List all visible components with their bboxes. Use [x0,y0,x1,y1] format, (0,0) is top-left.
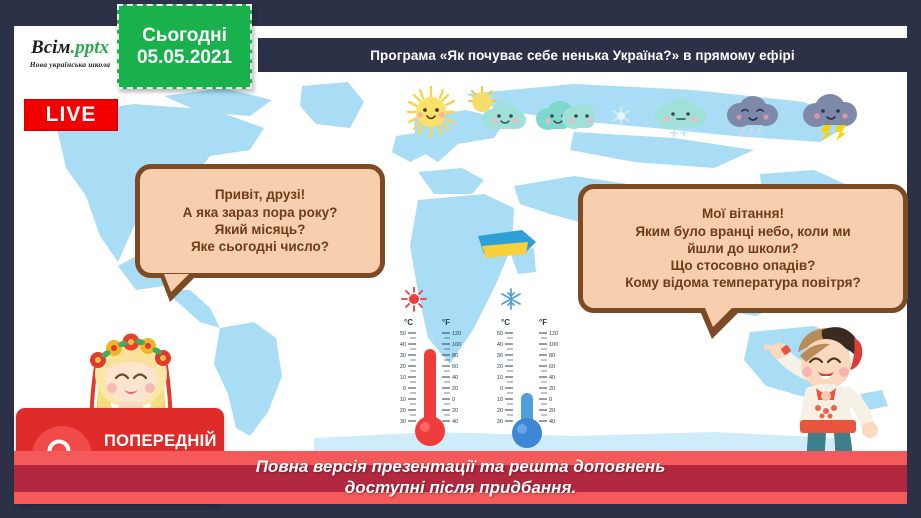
svg-text:80: 80 [452,353,458,359]
footer-bar: Повна версія презентації та решта доповн… [14,451,907,504]
svg-text:20: 20 [497,408,503,414]
svg-text:40: 40 [497,342,503,348]
snow-cloud-icon [648,83,710,141]
svg-text:100: 100 [452,342,461,348]
thunderstorm-cloud-icon [798,83,860,141]
svg-text:0: 0 [403,386,406,392]
svg-text:0: 0 [549,397,552,403]
sun-icon [400,83,462,141]
weather-icon-row [400,83,910,141]
snowflake-small-icon [605,83,637,141]
rain-cloud-icon [720,83,782,141]
svg-text:0: 0 [452,397,455,403]
svg-text:20: 20 [549,386,555,392]
svg-text:50: 50 [497,331,503,337]
svg-text:20: 20 [452,386,458,392]
svg-text:10: 10 [497,375,503,381]
svg-text:20: 20 [549,408,555,414]
svg-text:60: 60 [452,364,458,370]
svg-text:30: 30 [400,419,406,425]
speech-bubble-right-tail-inner [705,308,732,327]
hot-thermometer: °C °F 504030 20100 102030 [390,287,476,457]
svg-text:30: 30 [497,353,503,359]
bubble-right-line-2: Яким було вранці небо, коли ми [635,223,850,240]
svg-text:40: 40 [452,375,458,381]
bubble-left-line-3: Який місяць? [215,221,306,238]
brand-logo-tagline: Нова українська школа [30,60,111,69]
today-badge: Сьогодні 05.05.2021 [117,4,252,89]
live-badge: LIVE [24,99,118,131]
preview-badge-line-1: ПОПЕРЕДНІЙ [104,432,217,450]
bubble-right-line-3: йшли до школи? [687,240,799,257]
clouds-icon [532,83,594,141]
bubble-left-line-2: А яка зараз пора року? [183,204,338,221]
svg-text:10: 10 [497,397,503,403]
live-badge-label: LIVE [46,103,97,127]
speech-bubble-right: Мої вітання! Яким було вранці небо, коли… [578,184,908,313]
snowflake-icon [502,289,520,309]
svg-text:20: 20 [400,364,406,370]
svg-text:0: 0 [500,386,503,392]
today-label: Сьогодні [142,25,227,47]
svg-text:40: 40 [549,375,555,381]
svg-text:10: 10 [400,375,406,381]
svg-text:30: 30 [497,419,503,425]
svg-text:50: 50 [400,331,406,337]
slide-stage: °C °F 504030 20100 102030 [0,0,921,518]
sun-cloud-icon [466,83,528,141]
svg-text:100: 100 [549,342,558,348]
svg-text:°F: °F [539,318,547,327]
svg-text:°C: °C [404,318,413,327]
footer-text: Повна версія презентації та решта доповн… [14,451,907,504]
svg-text:40: 40 [549,419,555,425]
svg-text:40: 40 [400,342,406,348]
brand-logo-name-green: .pptx [70,37,109,58]
svg-text:°C: °C [501,318,510,327]
svg-text:60: 60 [549,364,555,370]
cold-thermometer: °C °F 504030 20100 102030 [487,287,573,457]
today-date: 05.05.2021 [137,47,232,69]
svg-text:20: 20 [497,364,503,370]
svg-text:20: 20 [452,408,458,414]
boy-character [764,312,892,464]
svg-text:80: 80 [549,353,555,359]
bubble-left-line-1: Привіт, друзі! [215,186,305,203]
svg-text:40: 40 [452,419,458,425]
bubble-left-line-4: Яке сьогодні число? [191,238,329,255]
header-title: Програма «Як почуває себе ненька Україна… [370,48,795,63]
svg-text:10: 10 [400,397,406,403]
brand-logo-name-black: Всім [31,37,70,58]
svg-text:20: 20 [400,408,406,414]
svg-text:120: 120 [452,331,461,337]
footer-line-2: доступні після придбання. [345,478,576,498]
footer-line-1: Повна версія презентації та решта доповн… [256,457,666,477]
bubble-right-line-5: Кому відома температура повітря? [625,274,861,291]
header-bar: Програма «Як почуває себе ненька Україна… [258,38,907,72]
svg-text:30: 30 [400,353,406,359]
speech-bubble-left: Привіт, друзі! А яка зараз пора року? Як… [135,164,385,278]
brand-logo[interactable]: Всім.pptx Нова українська школа [14,30,126,76]
svg-text:120: 120 [549,331,558,337]
speech-bubble-left-tail-inner [164,274,189,292]
bubble-right-line-4: Що стосовно опадів? [671,257,816,274]
svg-text:°F: °F [442,318,450,327]
brand-logo-name: Всім.pptx [31,38,109,57]
bubble-right-line-1: Мої вітання! [702,205,784,222]
